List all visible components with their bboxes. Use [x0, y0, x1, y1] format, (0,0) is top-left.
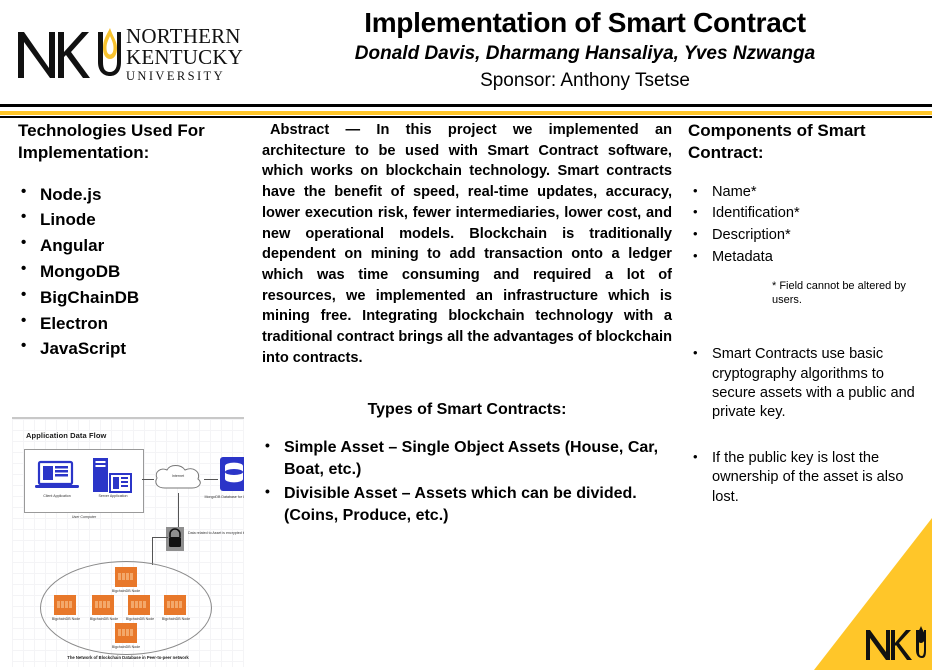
list-item: Angular — [18, 233, 250, 259]
diagram-label-encryption-note: Data related to Asset is encrypted befor… — [188, 531, 244, 535]
header-divider — [0, 104, 932, 118]
technologies-heading: Technologies Used For Implementation: — [18, 120, 250, 164]
diagram-label-internet: Internet — [154, 474, 202, 478]
list-item: Simple Asset – Single Object Assets (Hou… — [262, 437, 672, 481]
list-item: Smart Contracts use basic cryptography a… — [688, 345, 916, 423]
diagram-label-server-app: Server Application — [85, 494, 141, 498]
list-item: JavaScript — [18, 336, 250, 362]
laptop-icon — [35, 460, 79, 492]
sponsor-line: Sponsor: Anthony Tsetse — [250, 69, 920, 94]
bigchaindb-node — [164, 595, 186, 615]
author-list: Donald Davis, Dharmang Hansaliya, Yves N… — [250, 42, 920, 67]
bigchaindb-node — [128, 595, 150, 615]
divider-rule-black-top — [0, 104, 932, 107]
title-block: Implementation of Smart Contract Donald … — [250, 6, 920, 93]
bigchaindb-node — [115, 567, 137, 587]
types-heading: Types of Smart Contracts: — [262, 401, 672, 419]
list-item: Node.js — [18, 182, 250, 208]
diagram-label-database: MongoDB Database for User data storage — [200, 495, 244, 499]
field-note: * Field cannot be altered by users. — [772, 279, 916, 307]
application-data-flow-diagram: Application Data Flow — [12, 417, 244, 667]
divider-rule-gold — [0, 111, 932, 115]
diagram-label-node: BigchainDB Node — [92, 645, 160, 649]
diagram-connector — [152, 537, 153, 565]
nku-flame-icon — [14, 22, 122, 86]
notes-list: Smart Contracts use basic cryptography a… — [688, 345, 916, 507]
list-item: BigChainDB — [18, 285, 250, 311]
list-item: Name* — [688, 182, 916, 204]
abstract-paragraph: Abstract — In this project we implemente… — [262, 120, 672, 369]
center-column: Abstract — In this project we implemente… — [262, 120, 672, 529]
list-item: Description* — [688, 225, 916, 247]
list-item: Linode — [18, 207, 250, 233]
diagram-label-node: BigchainDB Node — [92, 589, 160, 593]
components-heading: Components of Smart Contract: — [688, 120, 916, 164]
logo-line-northern: NORTHERN — [126, 26, 243, 47]
divider-rule-black-bottom — [0, 116, 932, 118]
bigchaindb-node — [54, 595, 76, 615]
diagram-connector — [204, 479, 218, 480]
poster-header: NORTHERN KENTUCKY UNIVERSITY Implementat… — [0, 0, 932, 106]
bigchaindb-node — [92, 595, 114, 615]
poster-body: Technologies Used For Implementation: No… — [0, 120, 932, 670]
diagram-label-node: BigchainDB Node — [142, 617, 210, 621]
diagram-label-client-app: Client Application — [31, 494, 83, 498]
diagram-connector — [178, 493, 179, 527]
logo-line-kentucky: KENTUCKY — [126, 47, 243, 68]
technologies-list: Node.js Linode Angular MongoDB BigChainD… — [18, 182, 250, 363]
list-item: Divisible Asset – Assets which can be di… — [262, 483, 672, 527]
diagram-connector — [152, 537, 168, 538]
left-column: Technologies Used For Implementation: No… — [18, 120, 250, 362]
nku-logo-wordmark: NORTHERN KENTUCKY UNIVERSITY — [126, 26, 243, 83]
user-computer-group: Client Application Server Application — [24, 449, 144, 513]
diagram-label-user-computer: User Computer — [42, 515, 126, 519]
mongodb-database-icon: </ — [220, 457, 244, 491]
types-list: Simple Asset – Single Object Assets (Hou… — [262, 437, 672, 527]
logo-line-university: UNIVERSITY — [126, 70, 243, 83]
list-item: Metadata — [688, 247, 916, 269]
diagram-title: Application Data Flow — [26, 431, 106, 440]
list-item: Identification* — [688, 203, 916, 225]
right-column: Components of Smart Contract: Name* Iden… — [688, 120, 916, 533]
diagram-caption: The Network of Blockchain Database in Pe… — [12, 655, 244, 660]
components-list: Name* Identification* Description* Metad… — [688, 182, 916, 270]
lock-icon — [166, 527, 184, 551]
bigchaindb-node — [115, 623, 137, 643]
list-item: MongoDB — [18, 259, 250, 285]
server-icon — [91, 458, 133, 494]
list-item: If the public key is lost the ownership … — [688, 449, 916, 507]
nku-logo: NORTHERN KENTUCKY UNIVERSITY — [14, 18, 244, 90]
page-title: Implementation of Smart Contract — [250, 6, 920, 39]
list-item: Electron — [18, 311, 250, 337]
